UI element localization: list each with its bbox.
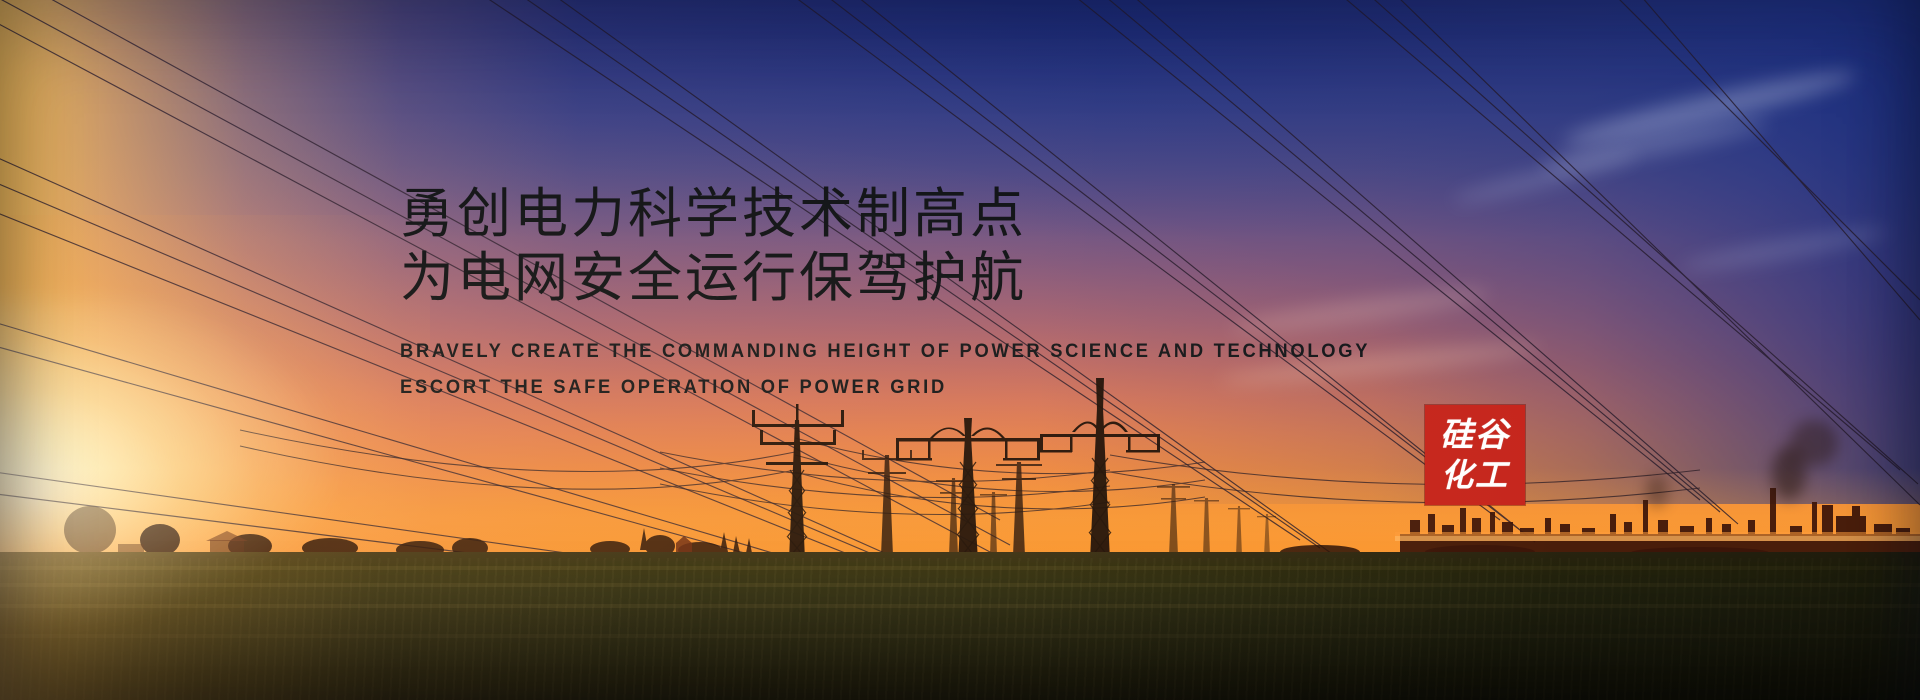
- headline-cn-line-1: 勇创电力科学技术制高点: [400, 182, 1410, 246]
- field-shadow-right: [1020, 552, 1920, 700]
- pylon-far: [980, 492, 1007, 556]
- pylon-mid: [862, 450, 912, 556]
- pylon-far: [1228, 506, 1250, 556]
- pylon-far: [1257, 514, 1276, 556]
- refinery-glow-hot: [1395, 536, 1920, 541]
- hero-banner: 勇创电力科学技术制高点 为电网安全运行保驾护航 BRAVELY CREATE T…: [0, 0, 1920, 700]
- pylon-large-right: [1040, 378, 1160, 572]
- headline-cn-line-2: 为电网安全运行保驾护航: [400, 246, 1410, 310]
- logo-seal-line-2: 化工: [1441, 455, 1509, 495]
- pylon-far: [1157, 484, 1190, 556]
- smoke-plume: [1646, 474, 1668, 508]
- banner-copy: 勇创电力科学技术制高点 为电网安全运行保驾护航 BRAVELY CREATE T…: [400, 182, 1410, 405]
- logo-seal-inner: 硅谷 化工: [1425, 405, 1525, 505]
- subhead-en-line-1: BRAVELY CREATE THE COMMANDING HEIGHT OF …: [400, 333, 1349, 369]
- sun-ray-wash: [0, 300, 400, 660]
- smoke-plume: [1790, 420, 1838, 466]
- logo-seal[interactable]: 硅谷 化工: [1425, 405, 1525, 505]
- subhead-en-block: BRAVELY CREATE THE COMMANDING HEIGHT OF …: [400, 333, 1410, 405]
- pylon-far: [1194, 498, 1219, 556]
- subhead-en-line-2: ESCORT THE SAFE OPERATION OF POWER GRID: [400, 369, 1349, 405]
- logo-seal-line-1: 硅谷: [1440, 415, 1510, 455]
- pylon-mid: [996, 462, 1042, 556]
